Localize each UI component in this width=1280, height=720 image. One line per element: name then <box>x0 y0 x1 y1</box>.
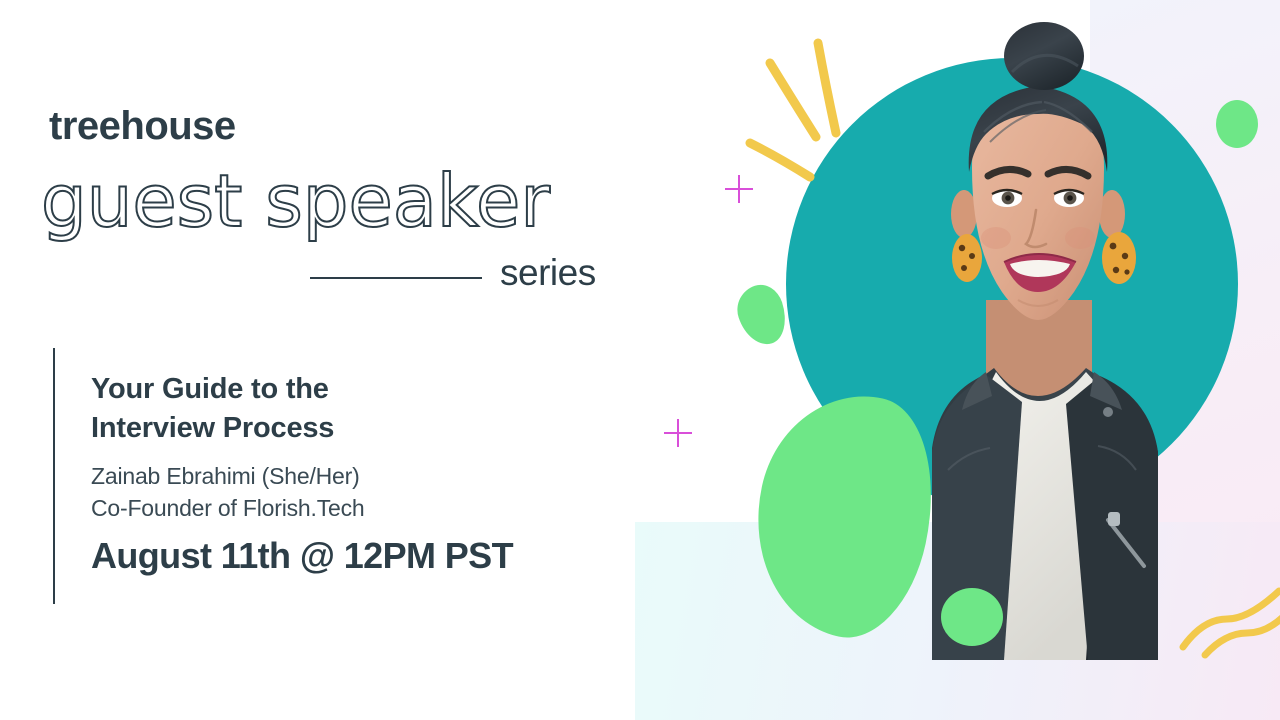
speaker-name: Zainab Ebrahimi (She/Her) <box>91 461 561 493</box>
yellow-wave-strokes-icon <box>1175 585 1280 660</box>
speaker-details: Zainab Ebrahimi (She/Her) Co-Founder of … <box>91 461 561 524</box>
magenta-plus-middle-icon <box>664 419 692 447</box>
vertical-divider-rule <box>53 348 55 604</box>
talk-title: Your Guide to the Interview Process <box>91 370 561 448</box>
series-label: series <box>500 253 596 294</box>
magenta-plus-top-icon <box>725 175 753 203</box>
event-datetime: August 11th @ 12PM PST <box>91 536 513 576</box>
yellow-sparkle-strokes-icon <box>740 25 870 185</box>
brand-wordmark: treehouse <box>49 106 236 146</box>
speaker-role: Co-Founder of Florish.Tech <box>91 493 561 525</box>
series-row: series <box>310 253 630 297</box>
plus-bar-vertical <box>738 175 740 203</box>
headline-outlined: guest speaker <box>41 165 550 237</box>
green-blob-small-icon <box>731 279 793 350</box>
promo-graphic: treehouse guest speaker series Your Guid… <box>0 0 1280 720</box>
series-divider-rule <box>310 277 482 279</box>
talk-title-line2: Interview Process <box>91 409 561 448</box>
talk-title-line1: Your Guide to the <box>91 370 561 409</box>
green-circle-bottom-icon <box>941 588 1003 646</box>
plus-bar-vertical <box>677 419 679 447</box>
